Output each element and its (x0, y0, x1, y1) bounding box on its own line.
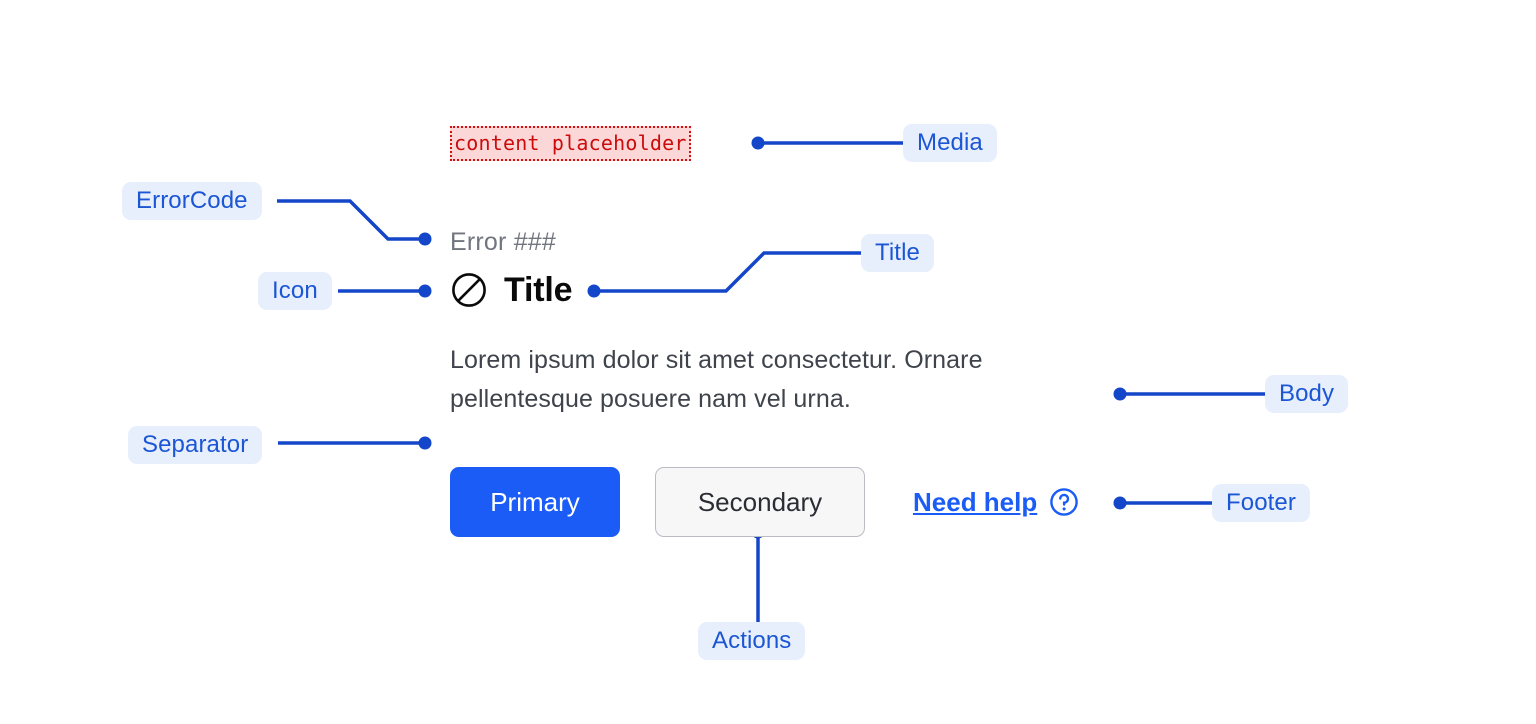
connector-title (594, 253, 861, 291)
annotation-label-separator[interactable]: Separator (128, 426, 262, 464)
annotation-label-icon[interactable]: Icon (258, 272, 332, 310)
annotated-error-state-spec: content placeholder Error ### Title Lore… (0, 0, 1536, 724)
need-help-label: Need help (913, 489, 1037, 515)
annotation-label-actions[interactable]: Actions (698, 622, 805, 660)
connector-errorcode (277, 201, 425, 239)
dot-body (1114, 388, 1127, 401)
dot-media (752, 137, 765, 150)
actions-row: Primary Secondary (450, 467, 865, 537)
secondary-button[interactable]: Secondary (655, 467, 865, 537)
annotation-label-body[interactable]: Body (1265, 375, 1348, 413)
page-title: Title (504, 273, 572, 307)
dot-footer (1114, 497, 1127, 510)
primary-button[interactable]: Primary (450, 467, 620, 537)
dot-title (588, 285, 601, 298)
media-content-placeholder: content placeholder (450, 126, 691, 161)
annotation-label-errorcode[interactable]: ErrorCode (122, 182, 262, 220)
body-text: Lorem ipsum dolor sit amet consectetur. … (450, 341, 1110, 419)
need-help-link[interactable]: Need help (913, 487, 1079, 517)
error-code-text: Error ### (450, 226, 556, 258)
annotation-label-media[interactable]: Media (903, 124, 997, 162)
question-mark-circle-icon[interactable] (1049, 487, 1079, 517)
annotation-label-footer[interactable]: Footer (1212, 484, 1310, 522)
dot-separator (419, 437, 432, 450)
title-row: Title (450, 268, 572, 312)
dot-icon (419, 285, 432, 298)
dot-errorcode (419, 233, 432, 246)
block-circle-slash-icon (450, 271, 488, 309)
annotation-label-title[interactable]: Title (861, 234, 934, 272)
